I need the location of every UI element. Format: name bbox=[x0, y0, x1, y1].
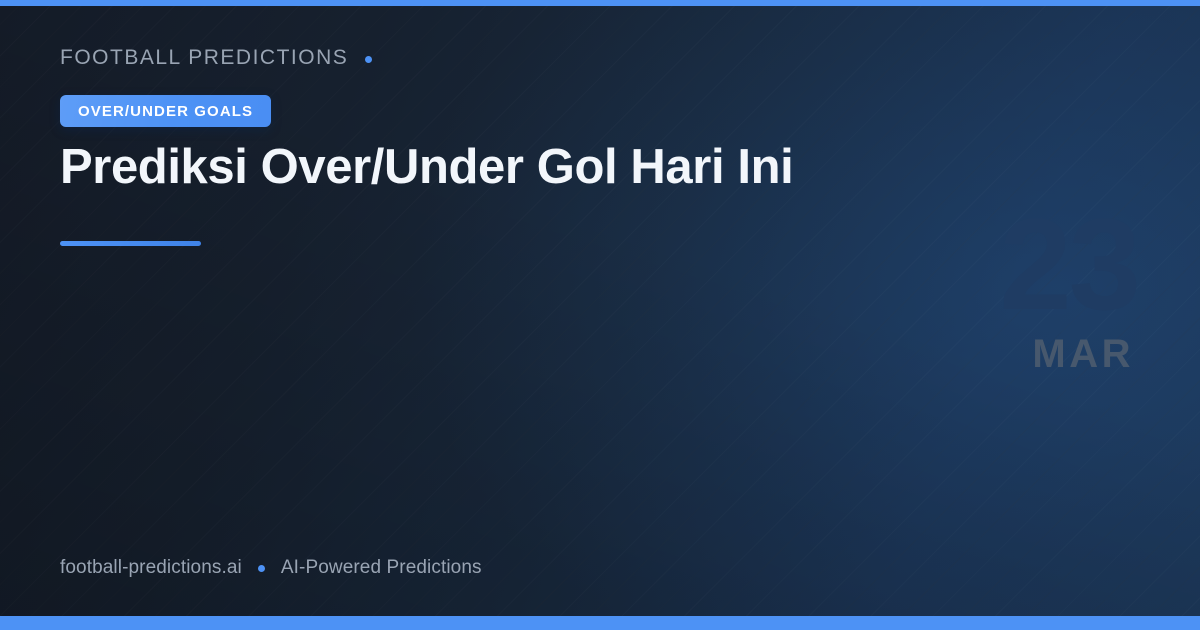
bullet-dot-icon bbox=[365, 56, 372, 63]
date-block: 23 MAR bbox=[999, 205, 1138, 376]
og-card: FOOTBALL PREDICTIONS OVER/UNDER GOALS Pr… bbox=[0, 0, 1200, 630]
eyebrow: FOOTBALL PREDICTIONS bbox=[60, 46, 372, 70]
page-title: Prediksi Over/Under Gol Hari Ini bbox=[60, 137, 960, 197]
footer: football-predictions.ai AI-Powered Predi… bbox=[60, 557, 482, 579]
category-badge-label: OVER/UNDER GOALS bbox=[78, 103, 253, 120]
footer-tagline: AI-Powered Predictions bbox=[281, 557, 482, 579]
date-month: MAR bbox=[999, 332, 1134, 376]
footer-site-name: football-predictions.ai bbox=[60, 557, 242, 579]
top-accent-bar bbox=[0, 0, 1200, 6]
bullet-dot-icon bbox=[258, 565, 265, 572]
bottom-accent-bar bbox=[0, 616, 1200, 630]
eyebrow-label: FOOTBALL PREDICTIONS bbox=[60, 46, 348, 70]
title-accent-rule bbox=[60, 241, 201, 246]
date-day: 23 bbox=[999, 205, 1138, 323]
category-badge: OVER/UNDER GOALS bbox=[60, 95, 271, 127]
